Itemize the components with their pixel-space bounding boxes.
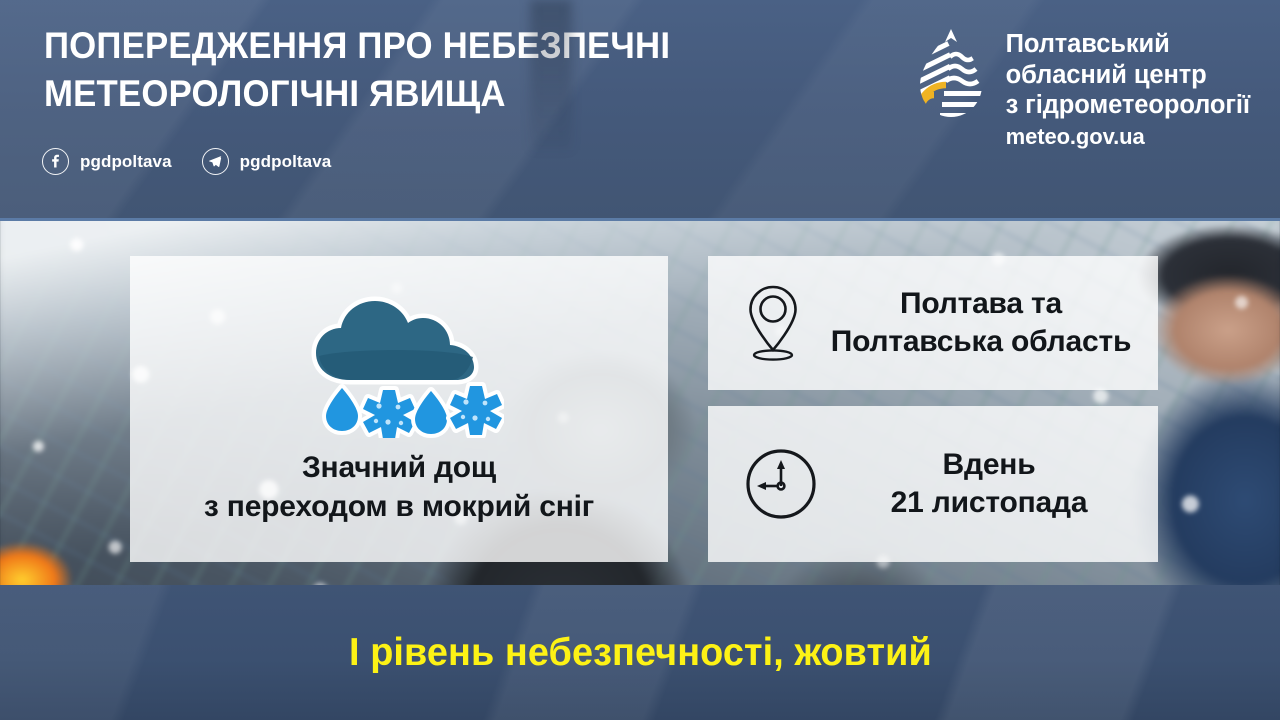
clock-icon [742, 445, 820, 523]
time-text: Вдень 21 листопада [846, 446, 1132, 523]
social-link-telegram[interactable]: pgdpoltava [202, 148, 332, 175]
location-pin-icon [742, 282, 804, 364]
area-text: Полтава та Полтавська область [830, 285, 1132, 362]
social-link-facebook[interactable]: pgdpoltava [42, 148, 172, 175]
telegram-icon [202, 148, 229, 175]
danger-level-text: І рівень небезпечності, жовтий [349, 631, 932, 675]
brand-line-2: обласний центр [1006, 60, 1250, 91]
brand-website-url: meteo.gov.ua [1006, 124, 1250, 150]
brand-line-3: з гідрометеорології [1006, 90, 1250, 121]
weather-warning-poster: ПОПЕРЕДЖЕННЯ ПРО НЕБЕЗПЕЧНІ МЕТЕОРОЛОГІЧ… [0, 0, 1280, 720]
card-phenomenon: Значний дощ з переходом в мокрий сніг [130, 256, 668, 562]
header-bar: ПОПЕРЕДЖЕННЯ ПРО НЕБЕЗПЕЧНІ МЕТЕОРОЛОГІЧ… [0, 0, 1280, 221]
facebook-handle: pgdpoltava [80, 152, 172, 172]
hydrometeorology-droplet-logo-icon [912, 27, 990, 127]
facebook-icon [42, 148, 69, 175]
brand-line-1: Полтавський [1006, 29, 1250, 60]
card-area: Полтава та Полтавська область [708, 256, 1158, 390]
telegram-handle: pgdpoltava [240, 152, 332, 172]
page-title: ПОПЕРЕДЖЕННЯ ПРО НЕБЕЗПЕЧНІ МЕТЕОРОЛОГІЧ… [44, 22, 758, 118]
brand-lockup: Полтавський обласний центр з гідрометеор… [912, 27, 1250, 150]
social-links: pgdpoltava pgdpoltava [42, 148, 331, 175]
danger-level-banner: І рівень небезпечності, жовтий [0, 585, 1280, 720]
brand-text: Полтавський обласний центр з гідрометеор… [1006, 27, 1250, 150]
card-time: Вдень 21 листопада [708, 406, 1158, 562]
phenomenon-label: Значний дощ з переходом в мокрий сніг [204, 448, 594, 526]
rain-and-snow-cloud-icon [294, 288, 504, 438]
